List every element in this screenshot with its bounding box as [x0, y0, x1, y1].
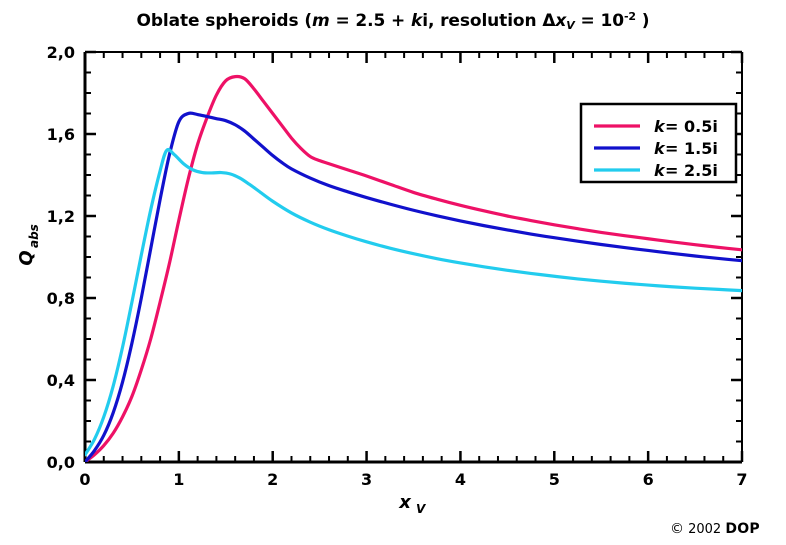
chart-figure: Oblate spheroids (m = 2.5 + ki, resoluti…: [0, 0, 786, 545]
x-axis-title-subscript: V: [416, 502, 427, 516]
y-axis-title-symbol: Q: [16, 250, 37, 265]
copyright-notice: © 2002 DOP: [670, 521, 760, 537]
x-axis-title: x V: [398, 492, 427, 516]
legend-label-text-2: = 1.5i: [665, 139, 718, 158]
y-tick-label: 0,8: [47, 289, 75, 308]
legend-label-text-3: = 2.5i: [665, 161, 718, 180]
x-tick-label: 5: [549, 470, 560, 489]
x-tick-label: 1: [173, 470, 184, 489]
x-tick-label: 7: [736, 470, 747, 489]
copyright-owner: DOP: [725, 521, 760, 537]
legend: k = 0.5ik = 1.5ik = 2.5i: [581, 104, 736, 182]
y-tick-label: 2,0: [47, 43, 75, 62]
copyright-mark: ©: [670, 521, 684, 537]
x-axis-title-symbol: x: [398, 492, 412, 513]
y-axis-title: Q abs: [16, 224, 41, 266]
x-tick-label: 4: [455, 470, 466, 489]
legend-items: k = 0.5ik = 1.5ik = 2.5i: [594, 117, 718, 180]
y-tick-label: 0,4: [47, 371, 75, 390]
x-axis-tick-labels: 01234567: [79, 470, 747, 489]
y-tick-label: 1,6: [47, 125, 75, 144]
legend-label-text-1: = 0.5i: [665, 117, 718, 136]
y-axis-title-subscript: abs: [27, 224, 41, 248]
x-tick-label: 2: [267, 470, 278, 489]
x-tick-label: 6: [643, 470, 654, 489]
plot-area: 01234567 0,00,40,81,21,62,0 x V Q abs k …: [0, 0, 786, 545]
x-tick-label: 0: [79, 470, 90, 489]
y-tick-label: 0,0: [47, 453, 75, 472]
y-tick-label: 1,2: [47, 207, 75, 226]
copyright-year: 2002: [688, 522, 721, 537]
y-axis-tick-labels: 0,00,40,81,21,62,0: [47, 43, 75, 472]
x-tick-label: 3: [361, 470, 372, 489]
